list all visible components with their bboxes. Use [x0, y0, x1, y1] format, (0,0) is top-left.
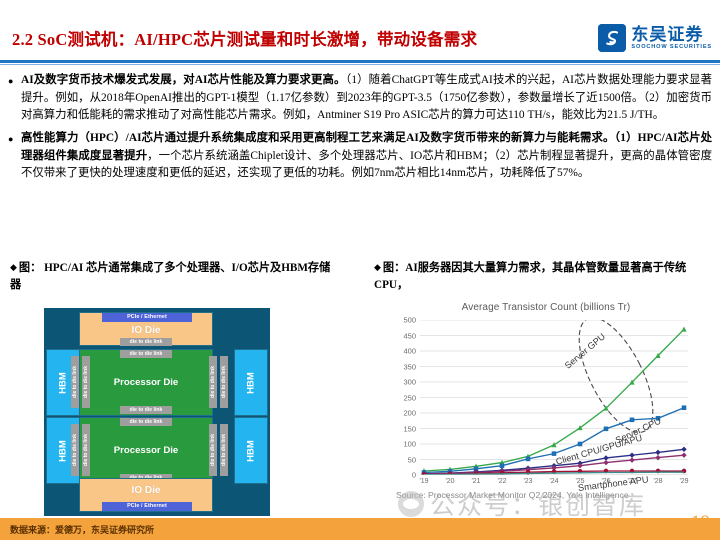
x-axis-tick-label: '29	[679, 478, 688, 485]
die-to-die-link: die to die link	[120, 350, 172, 358]
die-to-die-link: die to die link	[82, 356, 90, 408]
right-figure-caption-text: 图：AI服务器因其大量算力需求，其晶体管数量显著高于传统CPU，	[374, 262, 686, 291]
y-axis-tick-label: 150	[403, 424, 416, 433]
y-axis-tick-label: 400	[403, 347, 416, 356]
transistor-count-chart: Average Transistor Count (billions Tr) 0…	[378, 300, 714, 512]
y-axis-tick-label: 350	[403, 362, 416, 371]
right-figure-caption: ◆图：AI服务器因其大量算力需求，其晶体管数量显著高于传统CPU，	[374, 260, 714, 294]
hbm-label: HBM	[246, 372, 257, 394]
chart-plot-area: 050100150200250300350400450500'19'20'21'…	[420, 320, 688, 475]
hbm-right-1: HBM	[234, 349, 268, 416]
io-die-label-top: IO Die	[80, 325, 212, 336]
chiplet-architecture-diagram: PCIe / Ethernet IO Die die to die link P…	[44, 308, 270, 516]
y-axis-tick-label: 500	[403, 316, 416, 325]
pcie-ethernet-bar-top: PCIe / Ethernet	[102, 313, 192, 322]
bullet-marker-icon: ●	[8, 72, 21, 86]
die-to-die-link: die to die link	[220, 356, 228, 408]
y-axis-tick-label: 200	[403, 409, 416, 418]
die-to-die-link: die to die link	[209, 424, 217, 476]
bullet-text: 高性能算力（HPC）/AI芯片通过提升系统集成度和采用更高制程工艺来满足AI及数…	[21, 130, 712, 183]
diamond-bullet-icon: ◆	[10, 262, 17, 272]
bullet-list: ● AI及数字货币技术爆发式发展，对AI芯片性能及算力要求更高。（1）随着Cha…	[8, 72, 712, 188]
slide-header: 2.2 SoC测试机：AI/HPC芯片测试量和时长激增，带动设备需求 东吴证券 …	[0, 0, 720, 62]
left-figure-caption-text: 图： HPC/AI 芯片通常集成了多个处理器、I/O芯片及HBM存储器	[10, 262, 330, 291]
diamond-bullet-icon: ◆	[374, 262, 381, 272]
x-axis-tick-label: '28	[653, 478, 662, 485]
chart-source-note: Source: Processor Market Monitor Q2 2024…	[396, 490, 629, 500]
bullet-marker-icon: ●	[8, 130, 21, 144]
die-to-die-link: die to die link	[120, 406, 172, 414]
x-axis-tick-label: '23	[523, 478, 532, 485]
y-axis-tick-label: 250	[403, 393, 416, 402]
x-axis-tick-label: '19	[419, 478, 428, 485]
left-figure-caption: ◆图： HPC/AI 芯片通常集成了多个处理器、I/O芯片及HBM存储器	[10, 260, 340, 294]
soochow-swirl-logo-icon	[598, 24, 626, 52]
y-axis-tick-label: 100	[403, 440, 416, 449]
bullet-lead: AI及数字货币技术爆发式发展，对AI芯片性能及算力要求更高。	[21, 74, 346, 86]
die-to-die-link: die to die link	[220, 424, 228, 476]
brand-logo: 东吴证券 SOOCHOW SECURITIES	[598, 24, 712, 52]
hbm-label: HBM	[58, 372, 69, 394]
chart-title: Average Transistor Count (billions Tr)	[378, 302, 714, 313]
processor-die-label-2: Processor Die	[80, 445, 212, 456]
x-axis-tick-label: '21	[471, 478, 480, 485]
die-to-die-link: die to die link	[71, 424, 79, 476]
die-to-die-link: die to die link	[120, 418, 172, 426]
brand-name-cn: 东吴证券	[631, 26, 712, 43]
list-item: ● 高性能算力（HPC）/AI芯片通过提升系统集成度和采用更高制程工艺来满足AI…	[8, 130, 712, 183]
hbm-right-2: HBM	[234, 417, 268, 484]
slide: 2.2 SoC测试机：AI/HPC芯片测试量和时长激增，带动设备需求 东吴证券 …	[0, 0, 720, 540]
y-axis-tick-label: 50	[408, 455, 416, 464]
x-axis-tick-label: '20	[445, 478, 454, 485]
hbm-label: HBM	[58, 440, 69, 462]
title-divider-thin	[0, 64, 720, 65]
die-to-die-link: die to die link	[71, 356, 79, 408]
y-axis-tick-label: 450	[403, 331, 416, 340]
brand-name-en: SOOCHOW SECURITIES	[631, 45, 712, 51]
footer-source: 数据来源：爱德万，东吴证券研究所	[10, 523, 154, 536]
y-axis-tick-label: 300	[403, 378, 416, 387]
die-to-die-link: die to die link	[209, 356, 217, 408]
chart-svg	[420, 320, 688, 475]
page-number: 19	[691, 512, 710, 534]
page-title: 2.2 SoC测试机：AI/HPC芯片测试量和时长激增，带动设备需求	[12, 26, 477, 50]
io-die-bottom: IO Die PCIe / Ethernet	[79, 478, 213, 512]
slide-footer: 数据来源：爱德万，东吴证券研究所 19	[0, 518, 720, 540]
processor-die-label-1: Processor Die	[80, 377, 212, 388]
io-die-label-bottom: IO Die	[80, 485, 212, 496]
brand-name: 东吴证券 SOOCHOW SECURITIES	[631, 26, 712, 51]
die-to-die-link: die to die link	[120, 338, 172, 346]
die-to-die-link: die to die link	[82, 424, 90, 476]
pcie-ethernet-bar-bottom: PCIe / Ethernet	[102, 502, 192, 511]
list-item: ● AI及数字货币技术爆发式发展，对AI芯片性能及算力要求更高。（1）随着Cha…	[8, 72, 712, 125]
x-axis-tick-label: '22	[497, 478, 506, 485]
bullet-text: AI及数字货币技术爆发式发展，对AI芯片性能及算力要求更高。（1）随着ChatG…	[21, 72, 712, 125]
y-axis-tick-label: 0	[412, 471, 416, 480]
x-axis-tick-label: '24	[549, 478, 558, 485]
hbm-label: HBM	[246, 440, 257, 462]
title-divider	[0, 60, 720, 63]
